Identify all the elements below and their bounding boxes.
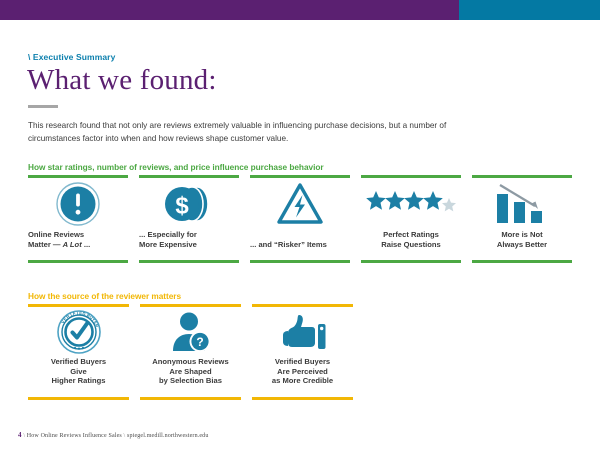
card-anonymous-reviews[interactable]: ? Anonymous Reviews Are Shaped by Select…	[140, 304, 241, 400]
card-bottom-rule	[250, 260, 350, 263]
footer-document-title: How Online Reviews Influence Sales	[27, 433, 122, 439]
card-label: Perfect Ratings Raise Questions	[381, 230, 441, 253]
card-label-line-2: More Expensive	[139, 240, 239, 250]
card-label-line-2: ... and “Risker” Items	[250, 240, 350, 250]
footer-url[interactable]: spiegel.medill.northwestern.edu	[127, 433, 208, 439]
slide-body: \ Executive Summary What we found: This …	[0, 20, 600, 463]
card-label-line-2: Always Better	[497, 240, 547, 250]
card-label: ... and “Risker” Items	[250, 230, 350, 253]
card-label-line-2: Matter — A Lot ...	[28, 240, 128, 250]
thumbs-up-icon	[252, 307, 353, 357]
card-label-line-3: as More Credible	[272, 376, 333, 386]
exclamation-circle-icon	[28, 178, 128, 230]
card-label: Verified Buyers Give Higher Ratings	[51, 357, 106, 390]
card-label-line-2: Raise Questions	[381, 240, 441, 250]
card-label: Anonymous Reviews Are Shaped by Selectio…	[152, 357, 228, 390]
card-label-line-1: Anonymous Reviews	[152, 357, 228, 367]
footer-separator-1: \	[23, 433, 25, 439]
card-perfect-ratings[interactable]: Perfect Ratings Raise Questions	[361, 175, 461, 263]
title-underline-rule	[28, 105, 58, 108]
card-label-line-2: Give	[51, 367, 106, 377]
section-heading-ratings: How star ratings, number of reviews, and…	[28, 162, 324, 172]
eyebrow-label: \ Executive Summary	[28, 52, 115, 62]
card-bottom-rule	[361, 260, 461, 263]
svg-text:$: $	[175, 193, 189, 220]
page-footer: 4 \ How Online Reviews Influence Sales \…	[18, 431, 208, 439]
section-1-card-row: Online Reviews Matter — A Lot ... $ ... …	[28, 175, 573, 263]
card-bottom-rule	[28, 397, 129, 400]
card-label-line-1: Online Reviews	[28, 230, 128, 240]
top-accent-bar	[0, 0, 600, 20]
card-label-line-1: Verified Buyers	[51, 357, 106, 367]
card-label: ... Especially for More Expensive	[139, 230, 239, 253]
label-part-tail: ...	[82, 240, 90, 249]
label-part-italic: A Lot	[63, 240, 82, 249]
card-bottom-rule	[140, 397, 241, 400]
page-number: 4	[18, 431, 22, 439]
label-part-a: Matter —	[28, 240, 63, 249]
footer-separator-2: \	[124, 433, 126, 439]
card-risker-items[interactable]: ... and “Risker” Items	[250, 175, 350, 263]
svg-text:?: ?	[196, 335, 203, 349]
card-label-line-3: Higher Ratings	[51, 376, 106, 386]
card-especially-more-expensive[interactable]: $ ... Especially for More Expensive	[139, 175, 239, 263]
card-verified-buyers-higher-ratings[interactable]: V E R I F I E D B U Y E R	[28, 304, 129, 400]
section-heading-source: How the source of the reviewer matters	[28, 291, 181, 301]
topbar-purple-segment	[0, 0, 459, 20]
dollar-coins-icon: $	[139, 178, 239, 230]
card-label-line-1: Perfect Ratings	[381, 230, 441, 240]
card-label-line-1: ... Especially for	[139, 230, 239, 240]
intro-paragraph: This research found that not only are re…	[28, 120, 483, 145]
section-2-card-row: V E R I F I E D B U Y E R	[28, 304, 355, 400]
topbar-teal-segment	[459, 0, 600, 20]
card-bottom-rule	[252, 397, 353, 400]
card-label-line-2: Are Shaped	[152, 367, 228, 377]
anonymous-user-icon: ?	[140, 307, 241, 357]
card-label-line-2: Are Perceived	[272, 367, 333, 377]
card-label-line-1: Verified Buyers	[272, 357, 333, 367]
verified-buyer-badge-icon: V E R I F I E D B U Y E R	[28, 307, 129, 357]
card-bottom-rule	[28, 260, 128, 263]
card-bottom-rule	[472, 260, 572, 263]
four-star-rating-icon	[361, 178, 461, 230]
card-label: More is Not Always Better	[497, 230, 547, 253]
intro-line-1: This research found that not only are re…	[28, 121, 387, 130]
card-online-reviews-matter[interactable]: Online Reviews Matter — A Lot ...	[28, 175, 128, 263]
card-label: Online Reviews Matter — A Lot ...	[28, 230, 128, 253]
card-more-is-not-better[interactable]: More is Not Always Better	[472, 175, 572, 263]
card-bottom-rule	[139, 260, 239, 263]
page-title: What we found:	[27, 64, 217, 97]
card-label-line-3: by Selection Bias	[152, 376, 228, 386]
card-label: Verified Buyers Are Perceived as More Cr…	[272, 357, 333, 390]
declining-bars-icon	[472, 178, 572, 230]
card-label-line-1: More is Not	[497, 230, 547, 240]
card-verified-buyers-credible[interactable]: Verified Buyers Are Perceived as More Cr…	[252, 304, 353, 400]
hazard-lightning-icon	[250, 178, 350, 230]
